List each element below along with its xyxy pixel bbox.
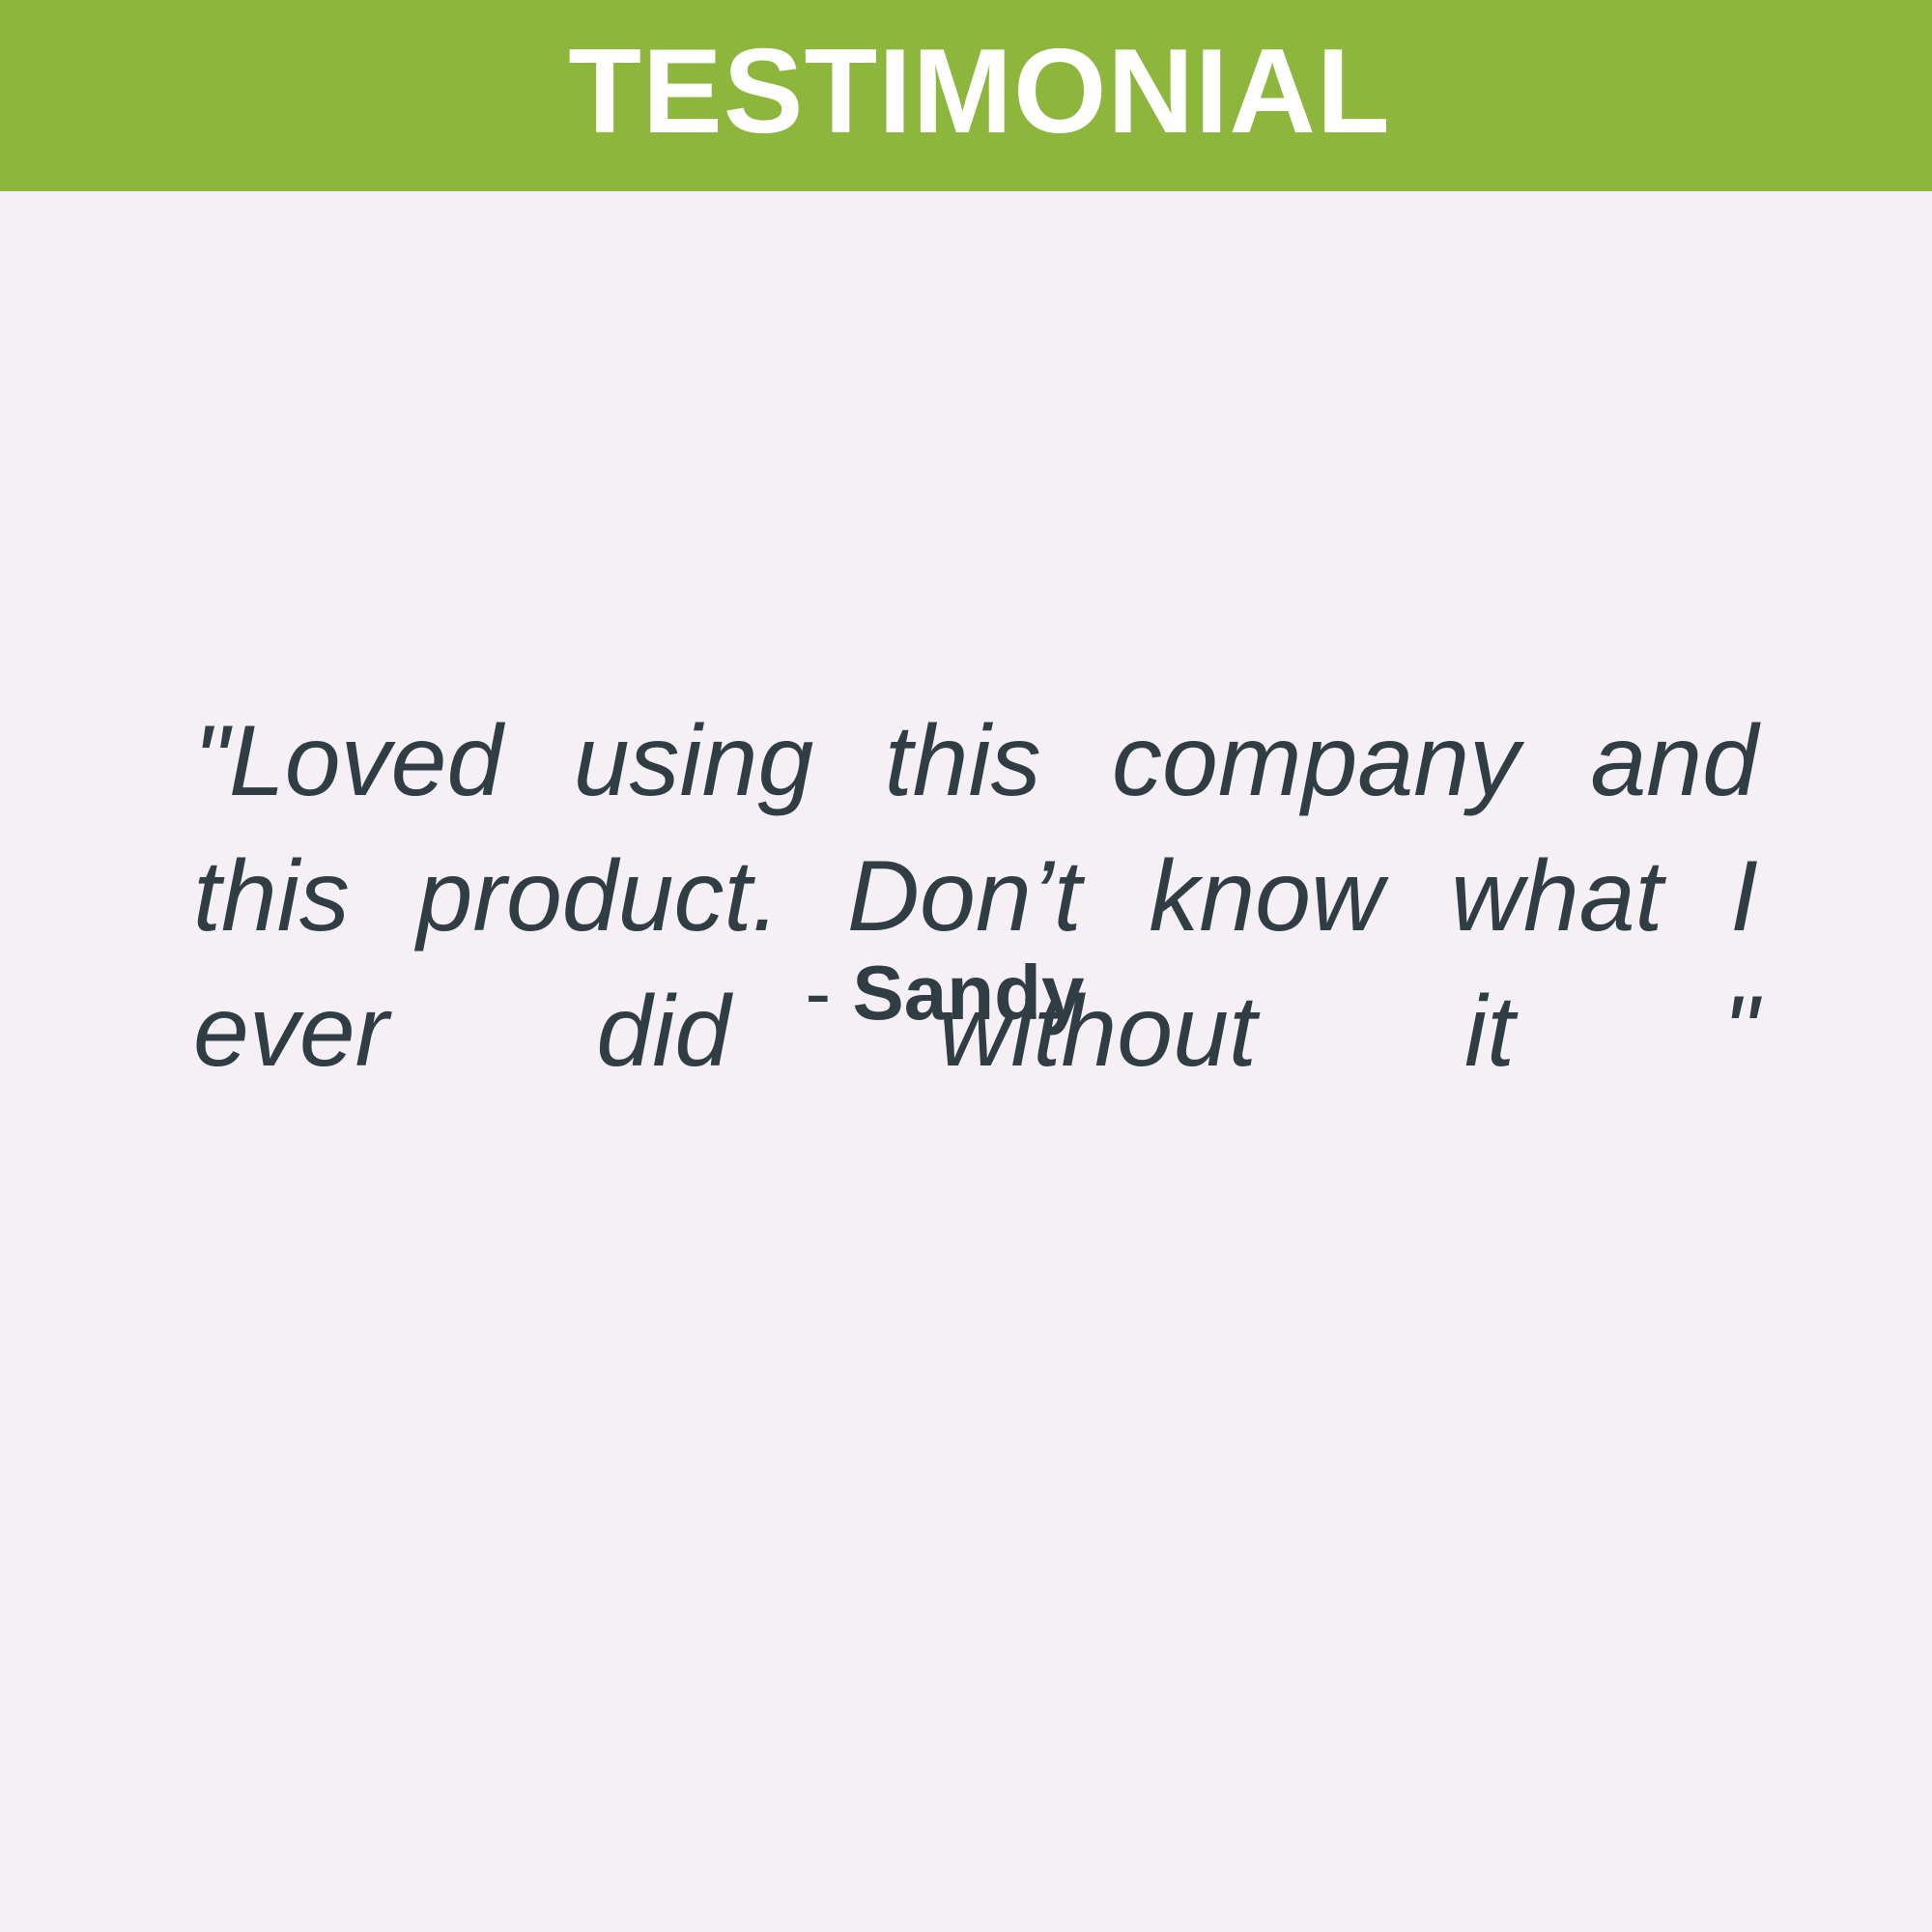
card-body: "Loved using this company and this produ…	[0, 191, 1932, 1932]
attribution-dash: -	[806, 950, 853, 1036]
header-banner: TESTIMONIAL	[0, 0, 1932, 191]
testimonial-card: TESTIMONIAL "Loved using this company an…	[0, 0, 1932, 1932]
attribution-name: Sandy	[852, 950, 1084, 1036]
attribution: - Sandy	[0, 954, 1911, 1032]
page-title: TESTIMONIAL	[568, 32, 1390, 152]
